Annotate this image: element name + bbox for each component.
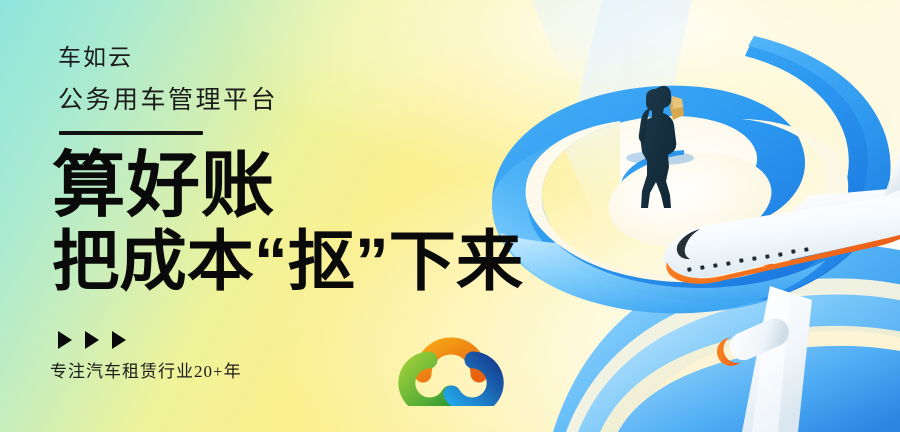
tagline: 专注汽车租赁行业20+年 (50, 363, 242, 380)
triangle-right-icon (85, 331, 99, 349)
banner-copy: 车如云 公务用车管理平台 算好账 把成本“抠”下来 专注汽车租赁行业20+年 (0, 0, 600, 432)
cloud-logo-icon (398, 330, 504, 406)
platform-name: 公务用车管理平台 (58, 88, 278, 113)
triangle-right-icon (58, 331, 72, 349)
arrow-marker-group (58, 331, 126, 349)
headline-line-2: 把成本“抠”下来 (52, 228, 523, 294)
divider-rule (59, 131, 203, 135)
headline-line-1: 算好账 (52, 150, 275, 222)
triangle-right-icon (112, 331, 126, 349)
promo-banner: 车如云 公务用车管理平台 算好账 把成本“抠”下来 专注汽车租赁行业20+年 (0, 0, 900, 432)
brand-name: 车如云 (58, 46, 133, 69)
